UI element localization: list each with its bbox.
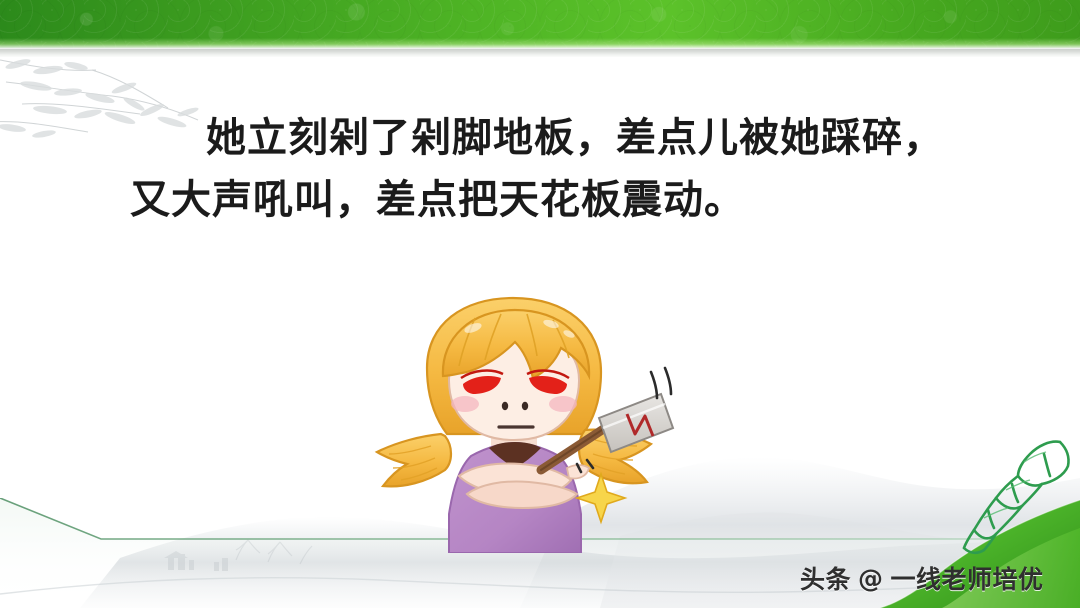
watermark: 头条 @ 一线老师培优 (800, 558, 1070, 598)
slide-body-text: 她立刻剁了剁脚地板，差点儿被她踩碎，又大声吼叫，差点把天花板震动。 (130, 107, 970, 231)
cleaver-blade (599, 394, 673, 452)
body-text-line-2: 又大声吼叫，差点把天花板震动。 (130, 169, 970, 231)
nostril-right (522, 402, 528, 410)
blush-left (451, 396, 479, 412)
watermark-platform: 头条 (800, 560, 851, 596)
header-sheen (0, 38, 1080, 48)
slide-canvas: 她立刻剁了剁脚地板，差点儿被她踩碎，又大声吼叫，差点把天花板震动。 (0, 0, 1080, 608)
blush-right (549, 396, 577, 412)
green-pencil-sketch-icon (960, 432, 1080, 562)
body-text-line-1: 她立刻剁了剁脚地板，差点儿被她踩碎， (130, 107, 970, 169)
angry-girl-illustration (355, 288, 675, 553)
green-header-band (0, 0, 1080, 48)
header-silver-strip (0, 48, 1080, 57)
nostril-left (502, 402, 508, 410)
watermark-at-symbol: @ (858, 564, 884, 593)
watermark-account: 一线老师培优 (891, 560, 1044, 596)
pigtail-left (377, 434, 451, 486)
